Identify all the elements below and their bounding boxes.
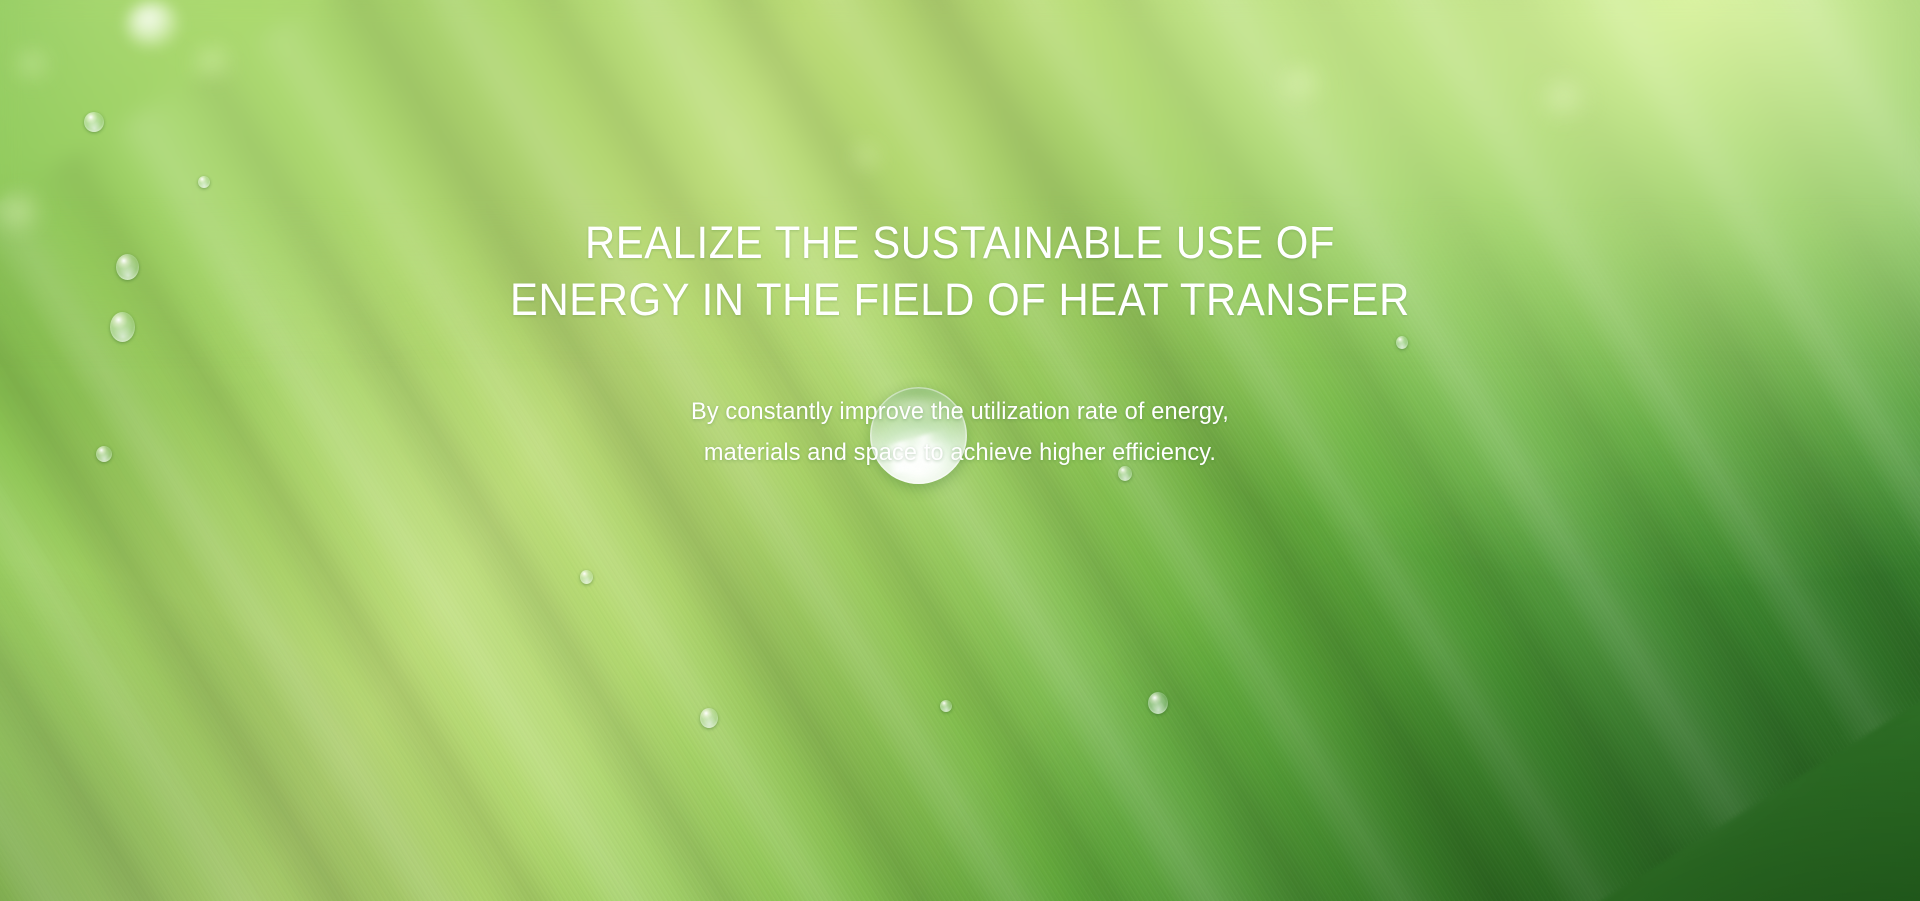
subtitle-line-2: materials and space to achieve higher ef… (38, 432, 1881, 473)
subtitle-line-1: By constantly improve the utilization ra… (38, 391, 1881, 432)
hero-subtitle: By constantly improve the utilization ra… (38, 328, 1881, 473)
page-title: REALIZE THE SUSTAINABLE USE OF ENERGY IN… (67, 214, 1853, 328)
headline-line-2: ENERGY IN THE FIELD OF HEAT TRANSFER (67, 271, 1853, 328)
hero-copy: REALIZE THE SUSTAINABLE USE OF ENERGY IN… (0, 214, 1920, 473)
hero-banner: REALIZE THE SUSTAINABLE USE OF ENERGY IN… (0, 0, 1920, 901)
headline-line-1: REALIZE THE SUSTAINABLE USE OF (67, 214, 1853, 271)
